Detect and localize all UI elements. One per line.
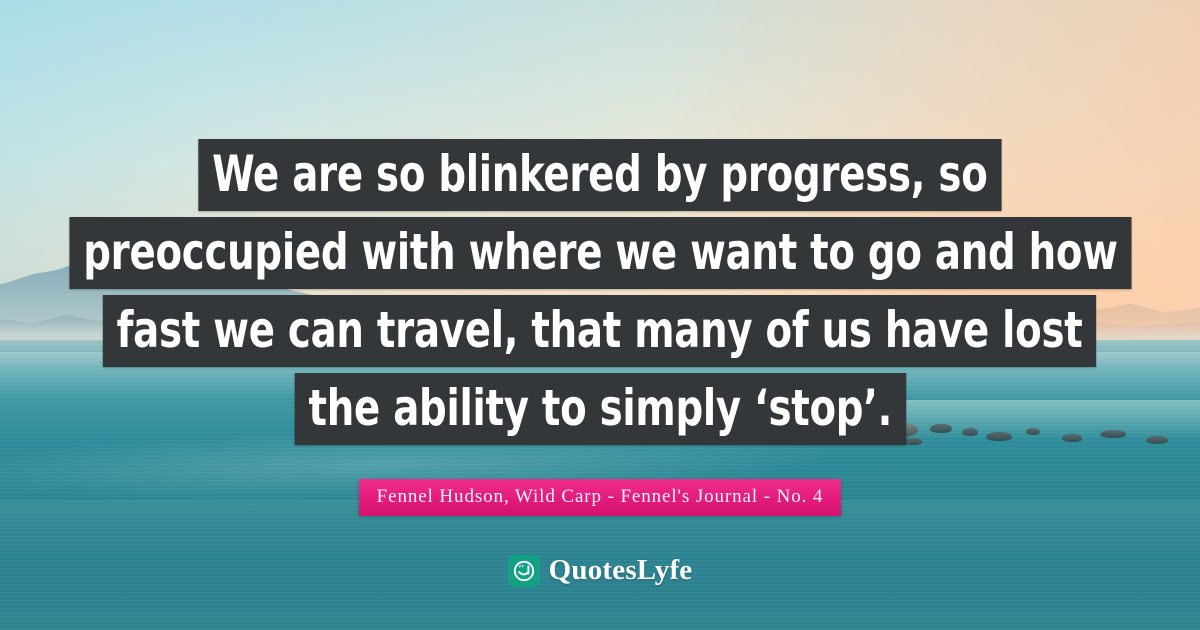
attribution-row: Fennel Hudson, Wild Carp - Fennel's Jour…: [0, 479, 1200, 516]
quote-line-2: preoccupied with where we want to go and…: [69, 217, 1131, 289]
quote-line-row: fast we can travel, that many of us have…: [22, 295, 1177, 367]
brand-logo[interactable]: QuotesLyfe: [0, 554, 1200, 587]
quote-line-row: preoccupied with where we want to go and…: [0, 217, 1200, 289]
brand-name: QuotesLyfe: [549, 554, 693, 587]
attribution-text: Fennel Hudson, Wild Carp - Fennel's Jour…: [359, 479, 842, 516]
quote-line-1: We are so blinkered by progress, so: [199, 139, 1002, 211]
quote-line-row: We are so blinkered by progress, so: [133, 139, 1067, 211]
quote-line-4: the ability to simply ‘stop’.: [294, 373, 905, 445]
quote-smiley-icon: [508, 555, 540, 587]
quote-card: We are so blinkered by progress, so preo…: [0, 0, 1200, 630]
quote-line-3: fast we can travel, that many of us have…: [103, 295, 1096, 367]
quote-block: We are so blinkered by progress, so preo…: [0, 139, 1200, 516]
quote-line-row: the ability to simply ‘stop’.: [245, 373, 956, 445]
